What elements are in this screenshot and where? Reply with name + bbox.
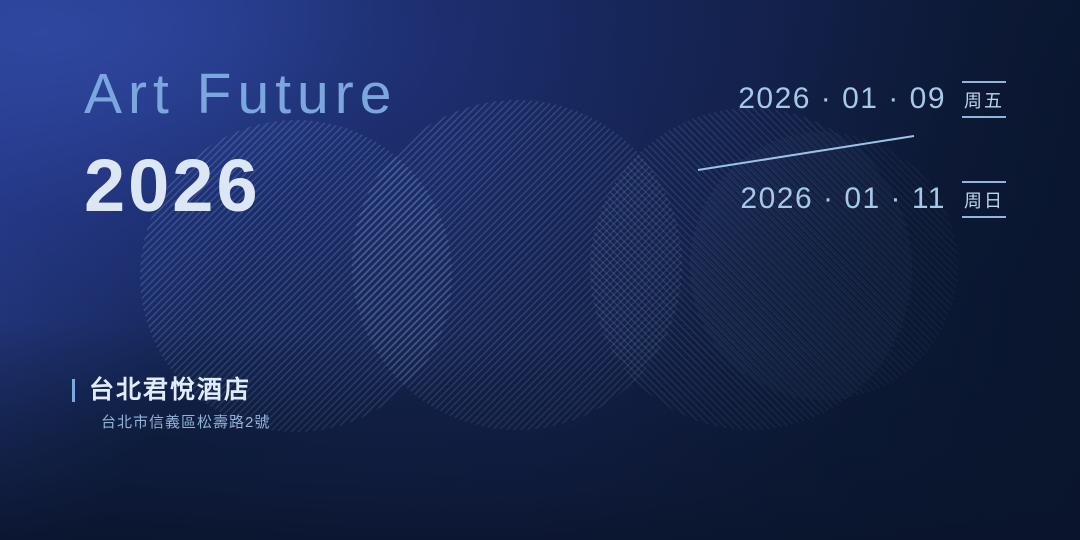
- start-date-text: 2026 · 01 · 09: [738, 82, 946, 116]
- start-weekday-badge: 周五: [962, 81, 1006, 118]
- end-date-text: 2026 · 01 · 11: [740, 182, 946, 216]
- venue-block: 台北君悅酒店 台北市信義區松壽路2號: [72, 378, 270, 430]
- schedule-end-row: 2026 · 01 · 11 周日: [686, 178, 1006, 220]
- venue-address: 台北市信義區松壽路2號: [101, 415, 270, 430]
- venue-name: 台北君悅酒店: [89, 378, 251, 403]
- accent-bar-icon: [72, 379, 75, 402]
- schedule-block: 2026 · 01 · 09 周五 2026 · 01 · 11 周日: [686, 78, 1006, 220]
- poster-title: Art Future: [84, 66, 397, 123]
- schedule-start-row: 2026 · 01 · 09 周五: [686, 78, 1006, 120]
- venue-name-row: 台北君悅酒店: [72, 378, 270, 403]
- event-poster: Art Future 2026 2026 · 01 · 09 周五 2026 ·…: [0, 0, 1080, 540]
- end-weekday-badge: 周日: [962, 181, 1006, 218]
- date-divider-line: [686, 130, 1006, 176]
- title-block: Art Future 2026: [84, 66, 397, 223]
- poster-year: 2026: [84, 149, 397, 223]
